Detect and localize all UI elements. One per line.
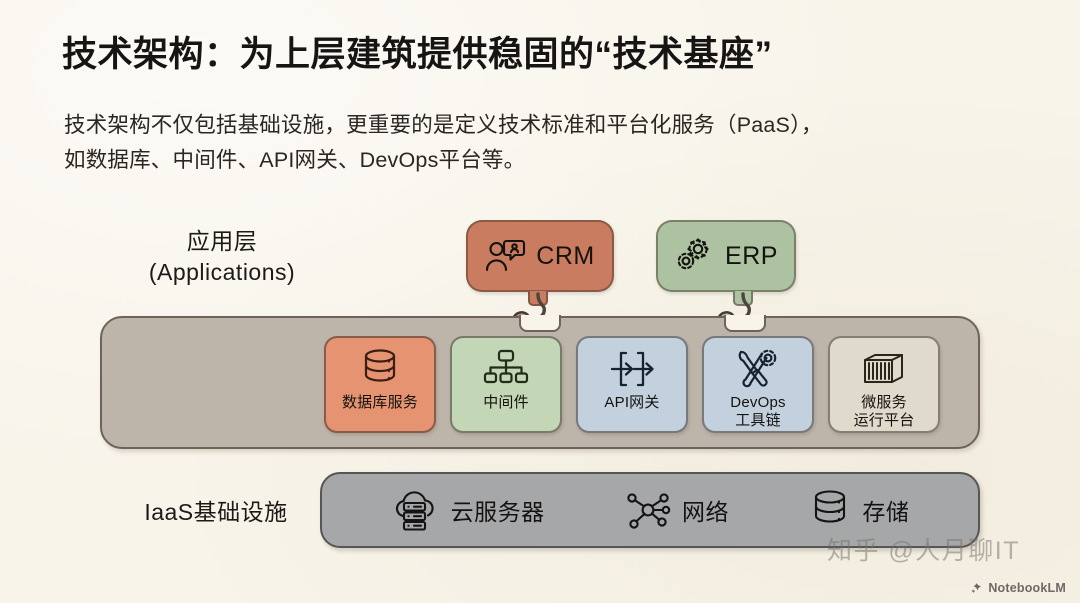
paas-service-cards: 数据库服务 中间件: [324, 336, 940, 433]
service-card-microservice-label-l1: 微服务: [854, 394, 915, 412]
service-card-database[interactable]: 数据库服务: [324, 336, 436, 433]
service-card-database-label-l1: 数据库服务: [342, 394, 418, 412]
iaas-layer-label: IaaS基础设施: [98, 497, 334, 528]
service-card-api-gateway-label-l1: API网关: [604, 394, 659, 412]
service-card-database-label: 数据库服务: [342, 394, 418, 412]
api-arrow-icon: [609, 347, 655, 391]
app-box-crm-label: CRM: [536, 242, 594, 271]
iaas-item-storage[interactable]: 存储: [810, 489, 909, 531]
paas-platform-bar: 数据库服务 中间件: [100, 316, 980, 449]
database-icon: [360, 347, 400, 391]
subtitle-line-1: 技术架构不仅包括基础设施，更重要的是定义技术标准和平台化服务（PaaS），: [64, 108, 1024, 143]
user-chat-icon: [485, 239, 525, 273]
service-card-devops-label-l1: DevOps: [730, 394, 785, 412]
iaas-item-network-label: 网络: [682, 493, 729, 527]
application-layer-label-en: (Applications): [104, 257, 340, 288]
app-box-erp[interactable]: ERP: [656, 220, 796, 292]
service-card-devops-label: DevOps 工具链: [730, 394, 785, 429]
service-card-api-gateway[interactable]: API网关: [576, 336, 688, 433]
service-card-middleware[interactable]: 中间件: [450, 336, 562, 433]
service-card-middleware-label: 中间件: [483, 394, 529, 412]
cloud-server-icon: [391, 488, 439, 532]
app-box-erp-label: ERP: [725, 242, 778, 271]
network-nodes-icon: [626, 489, 670, 531]
notebooklm-badge-label: NotebookLM: [988, 581, 1066, 595]
paas-bar-notch-erp: [724, 315, 766, 332]
iaas-item-cloud-server[interactable]: 云服务器: [391, 488, 545, 532]
service-card-microservice-label-l2: 运行平台: [854, 412, 915, 430]
app-box-crm[interactable]: CRM: [466, 220, 614, 292]
page-title: 技术架构：为上层建筑提供稳固的“技术基座”: [62, 26, 773, 77]
page-subtitle: 技术架构不仅包括基础设施，更重要的是定义技术标准和平台化服务（PaaS）， 如数…: [64, 108, 1024, 178]
iaas-item-network[interactable]: 网络: [626, 489, 729, 531]
application-layer-label: 应用层 (Applications): [104, 226, 340, 288]
paas-bar-notch-crm: [519, 315, 561, 332]
application-layer-label-cn: 应用层: [104, 226, 340, 257]
notebooklm-logo-icon: [970, 582, 983, 595]
storage-db-icon: [810, 489, 850, 531]
plug-port-erp: [733, 291, 753, 306]
iaas-item-cloud-server-label: 云服务器: [451, 493, 545, 527]
subtitle-line-2: 如数据库、中间件、API网关、DevOps平台等。: [64, 143, 1024, 178]
zhihu-watermark: 知乎 @人月聊IT: [827, 531, 1020, 567]
container-icon: [862, 347, 906, 391]
service-card-api-gateway-label: API网关: [604, 394, 659, 412]
service-card-devops-label-l2: 工具链: [730, 412, 785, 430]
service-card-middleware-label-l1: 中间件: [483, 394, 529, 412]
service-card-microservice[interactable]: 微服务 运行平台: [828, 336, 940, 433]
notebooklm-badge: NotebookLM: [970, 581, 1066, 595]
service-card-microservice-label: 微服务 运行平台: [854, 394, 915, 429]
service-card-devops[interactable]: DevOps 工具链: [702, 336, 814, 433]
gears-icon: [674, 238, 714, 274]
iaas-item-storage-label: 存储: [862, 493, 909, 527]
hierarchy-icon: [484, 347, 528, 391]
wrench-gear-icon: [737, 347, 779, 391]
plug-port-crm: [528, 291, 548, 306]
